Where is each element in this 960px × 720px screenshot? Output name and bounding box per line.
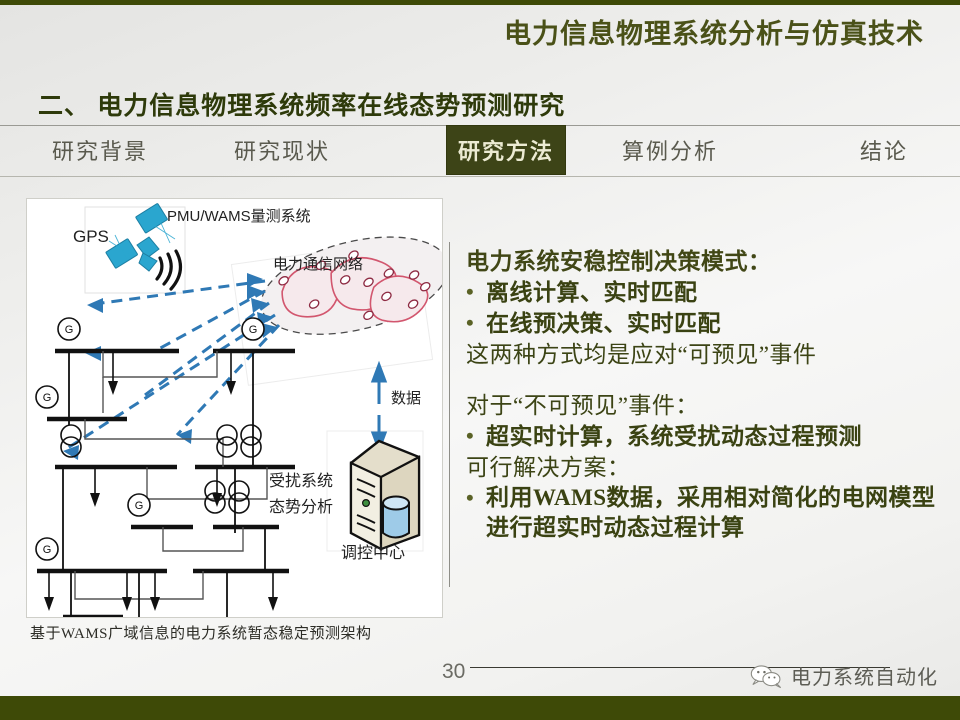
figure-label-comm-network: 电力通信网络 [273,253,363,274]
architecture-figure: G G G G G [26,198,443,618]
svg-text:G: G [135,500,144,512]
bullet-dot-icon: • [466,421,486,451]
tab-strip: 研究背景 研究现状 研究方法 算例分析 结论 [0,126,960,174]
figure-label-data: 数据 [391,387,421,408]
figure-label-gps: GPS [73,227,109,247]
svg-text:G: G [65,324,74,336]
bullet-text: 利用WAMS数据，采用相对简化的电网模型进行超实时动态过程计算 [486,483,946,543]
slide-canvas: 电力信息物理系统分析与仿真技术 二、 电力信息物理系统频率在线态势预测研究 研究… [0,0,960,720]
bullet-offline-calc: • 离线计算、实时匹配 [466,277,946,308]
bullet-dot-icon: • [466,308,486,338]
figure-label-control-center: 调控中心 [341,539,405,563]
content-text-panel: 电力系统安稳控制决策模式： • 离线计算、实时匹配 • 在线预决策、实时匹配 这… [466,246,946,543]
bullet-text: 超实时计算，系统受扰动态过程预测 [486,421,862,452]
text-heading-unforeseeable: 对于“不可预见”事件： [466,390,946,421]
bullet-super-realtime-calc: • 超实时计算，系统受扰动态过程预测 [466,421,946,452]
text-heading-control-mode: 电力系统安稳控制决策模式： [466,246,946,277]
brand-name: 电力系统自动化 [791,661,938,690]
page-title: 电力信息物理系统分析与仿真技术 [504,12,924,51]
bullet-wams-solution: • 利用WAMS数据，采用相对简化的电网模型进行超实时动态过程计算 [466,483,946,543]
svg-text:G: G [43,392,52,404]
figure-label-disturbed-system: 受扰系统 [269,467,333,491]
tab-research-method[interactable]: 研究方法 [447,126,565,174]
tab-research-background[interactable]: 研究背景 [30,126,170,174]
tab-label: 算例分析 [622,134,718,166]
svg-text:G: G [249,324,258,336]
svg-text:G: G [43,544,52,556]
text-note-foreseeable: 这两种方式均是应对“可预见”事件 [466,339,946,370]
bullet-text: 在线预决策、实时匹配 [486,308,721,339]
communication-network-cloud [251,220,442,353]
page-number: 30 [442,660,465,684]
tab-research-status[interactable]: 研究现状 [212,126,352,174]
wechat-icon [749,663,783,689]
tab-label: 研究背景 [52,134,148,166]
tab-label: 研究现状 [234,134,330,166]
panel-divider [449,242,450,587]
bottom-accent-bar [0,696,960,720]
bullet-online-predecision: • 在线预决策、实时匹配 [466,308,946,339]
tabstrip-divider [0,176,960,177]
top-accent-bar [0,0,960,5]
figure-label-situation-analysis: 态势分析 [269,493,333,517]
section-heading: 二、 电力信息物理系统频率在线态势预测研究 [38,86,565,122]
text-heading-solution: 可行解决方案： [466,452,946,483]
figure-caption: 基于WAMS广域信息的电力系统暂态稳定预测架构 [30,622,450,643]
bullet-text: 离线计算、实时匹配 [486,277,698,308]
brand-watermark: 电力系统自动化 [749,661,938,690]
tab-label: 结论 [860,134,908,166]
control-center-server-icon [351,441,419,549]
tab-conclusion[interactable]: 结论 [832,126,936,174]
tab-case-analysis[interactable]: 算例分析 [600,126,740,174]
text-spacer [466,370,946,390]
tab-label: 研究方法 [458,134,554,166]
power-grid-oneline: G G G G G [36,318,295,617]
bullet-dot-icon: • [466,483,486,513]
data-flow-arrow [373,365,385,449]
figure-label-pmu-wams: PMU/WAMS量测系统 [167,205,311,226]
bullet-dot-icon: • [466,277,486,307]
database-cylinder-icon [383,497,409,538]
